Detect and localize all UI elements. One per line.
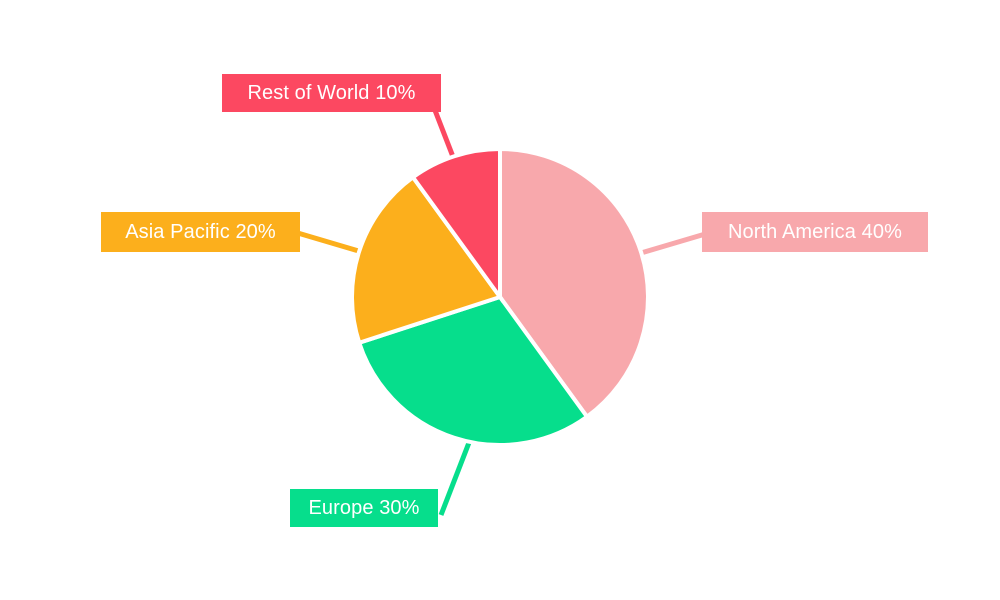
pie-label-asia-pacific-text: Asia Pacific 20% [125, 222, 276, 242]
pie-label-rest-of-world[interactable]: Rest of World 10% [222, 74, 441, 112]
leader-line-europe [441, 440, 470, 515]
pie-label-north-america-text: North America 40% [728, 222, 902, 242]
pie-chart-figure: North America 40% Europe 30% Asia Pacifi… [0, 0, 1000, 600]
pie-label-north-america[interactable]: North America 40% [702, 212, 928, 252]
pie-label-europe[interactable]: Europe 30% [290, 489, 438, 527]
leader-line-asia-pacific [291, 231, 362, 252]
pie-label-asia-pacific[interactable]: Asia Pacific 20% [101, 212, 300, 252]
pie-chart-canvas [0, 0, 1000, 600]
pie-label-europe-text: Europe 30% [308, 498, 419, 518]
pie-slices [352, 149, 648, 445]
pie-label-rest-of-world-text: Rest of World 10% [247, 83, 415, 103]
